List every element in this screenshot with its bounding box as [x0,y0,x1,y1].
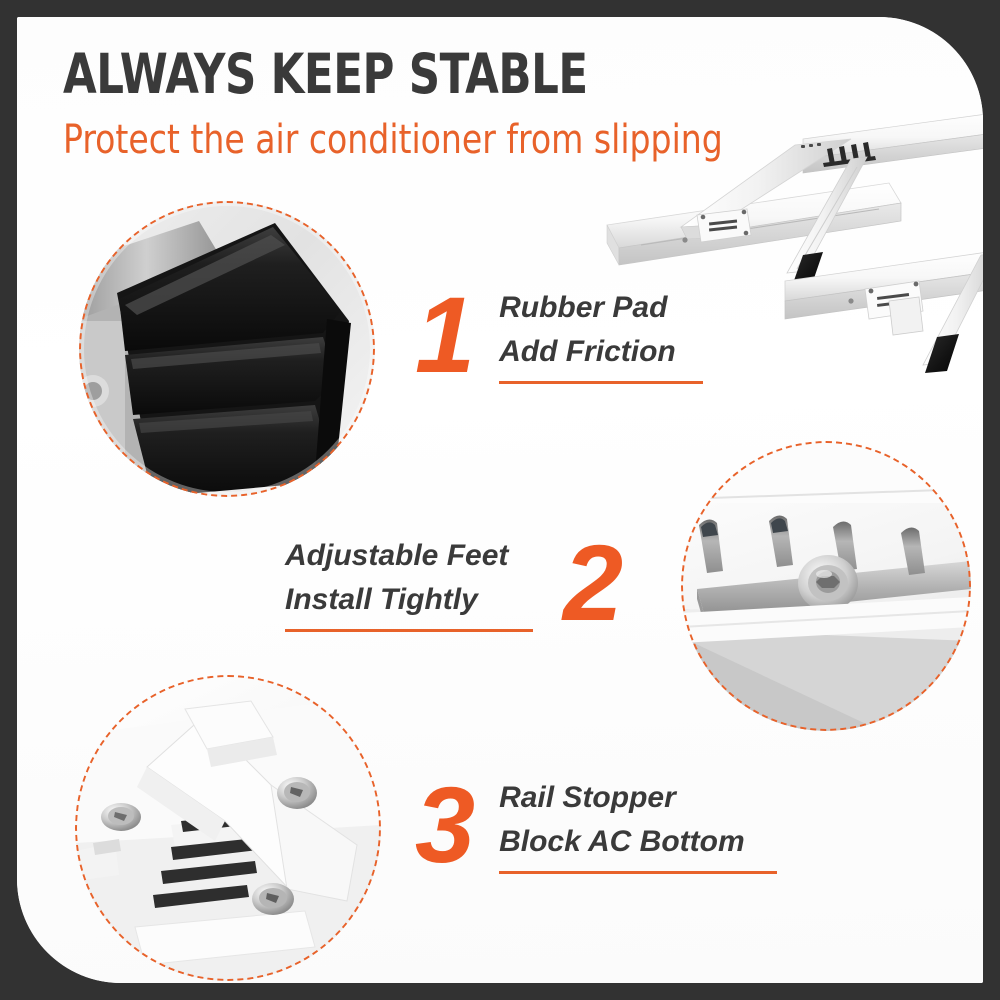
infographic-poster: ALWAYS KEEP STABLE Protect the air condi… [0,0,1000,1000]
feature-item-2: Adjustable Feet Install Tightly 2 [285,533,621,633]
hero-claw-detail [823,142,876,167]
feature-underline-2 [285,629,533,632]
feature-line1-3: Rail Stopper [499,776,777,820]
hero-upper-bracket-plate [697,209,751,242]
feature-body-3: Rail Stopper Block AC Bottom [499,776,777,874]
hero-lower-bracket-plate [865,281,923,319]
feature-body-2: Adjustable Feet Install Tightly [285,534,533,632]
rubber-pad-2 [925,334,959,373]
feature-number-2: 2 [563,533,621,633]
adjustable-feet-photo [681,441,971,731]
feature-photo-1 [79,201,375,497]
heading-block: ALWAYS KEEP STABLE Protect the air condi… [63,45,780,163]
hero-rear-rail [803,111,983,173]
rail-stopper-photo [75,675,381,981]
hero-screw [848,298,853,303]
feature-line1-2: Adjustable Feet [285,534,533,578]
hero-upper-vent-slots [801,143,821,148]
rubber-pad-1 [791,252,823,289]
black-ribbed-rubber-pad-photo [79,201,375,497]
feature-photo-3 [75,675,381,981]
feature-line2-2: Install Tightly [285,578,533,622]
feature-line2-3: Block AC Bottom [499,820,777,864]
feature-photo-2 [681,441,971,731]
page-subtitle: Protect the air conditioner from slippin… [63,117,723,163]
hero-strut-2 [923,253,983,373]
feature-number-1: 1 [415,285,473,385]
feature-underline-3 [499,871,777,874]
feature-line1-1: Rubber Pad [499,286,703,330]
hero-screw [682,237,687,242]
hero-mid-rail [785,249,983,319]
hero-joint-block [889,297,923,335]
feature-item-3: 3 Rail Stopper Block AC Bottom [415,775,777,875]
hero-front-arm [607,183,901,265]
hero-strut-1 [787,157,867,289]
white-panel: ALWAYS KEEP STABLE Protect the air condi… [17,17,983,983]
feature-underline-1 [499,381,703,384]
feature-item-1: 1 Rubber Pad Add Friction [415,285,703,385]
feature-number-3: 3 [415,775,473,875]
feature-line2-1: Add Friction [499,330,703,374]
page-title: ALWAYS KEEP STABLE [63,45,694,103]
feature-body-1: Rubber Pad Add Friction [499,286,703,384]
hex-bolt [798,555,858,611]
